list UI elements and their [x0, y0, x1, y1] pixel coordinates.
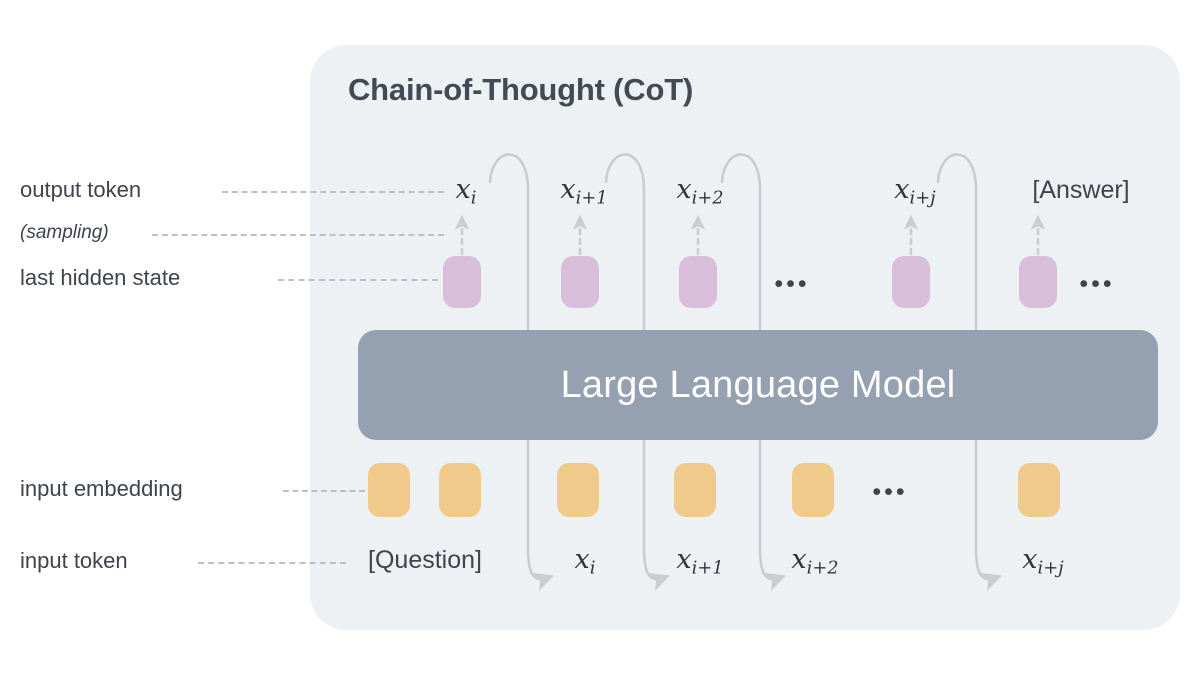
label-input-token: input token — [20, 548, 128, 574]
label-sampling: (sampling) — [20, 222, 109, 244]
input-token-question: [Question] — [368, 546, 482, 575]
hidden-state-box — [1019, 256, 1057, 308]
input-embedding-box — [439, 463, 481, 517]
label-input-embedding: input embedding — [20, 476, 183, 502]
input-embedding-box — [368, 463, 410, 517]
input-embedding-box — [792, 463, 834, 517]
connector-output-token — [222, 191, 444, 193]
input-embedding-ellipsis: ••• — [872, 480, 907, 505]
label-last-hidden-state: last hidden state — [20, 265, 180, 291]
input-embedding-box — [557, 463, 599, 517]
hidden-state-box — [892, 256, 930, 308]
connector-input-embedding — [283, 490, 365, 492]
label-output-token: output token — [20, 177, 141, 203]
hidden-state-box — [679, 256, 717, 308]
input-embedding-box — [1018, 463, 1060, 517]
hidden-state-box — [443, 256, 481, 308]
input-token-xij: xi+j — [1022, 544, 1063, 578]
hidden-state-ellipsis: ••• — [774, 272, 809, 297]
large-language-model-block: Large Language Model — [358, 330, 1158, 440]
input-token-xi2: xi+2 — [791, 544, 838, 578]
input-token-xi1: xi+1 — [676, 544, 723, 578]
hidden-state-box — [561, 256, 599, 308]
output-token-xij: xi+j — [894, 174, 935, 208]
connector-last-hidden-state — [278, 279, 438, 281]
connector-sampling — [152, 234, 444, 236]
large-language-model-label: Large Language Model — [561, 364, 956, 407]
output-token-answer: [Answer] — [1032, 176, 1129, 205]
output-token-xi: xi — [456, 174, 477, 208]
diagram-title: Chain-of-Thought (CoT) — [348, 72, 693, 108]
output-token-xi1: xi+1 — [560, 174, 607, 208]
diagram-canvas: Chain-of-Thought (CoT) output token (sam… — [0, 0, 1200, 676]
input-token-xi: xi — [575, 544, 596, 578]
hidden-state-ellipsis: ••• — [1079, 272, 1114, 297]
output-token-xi2: xi+2 — [676, 174, 723, 208]
input-embedding-box — [674, 463, 716, 517]
connector-input-token — [198, 562, 346, 564]
